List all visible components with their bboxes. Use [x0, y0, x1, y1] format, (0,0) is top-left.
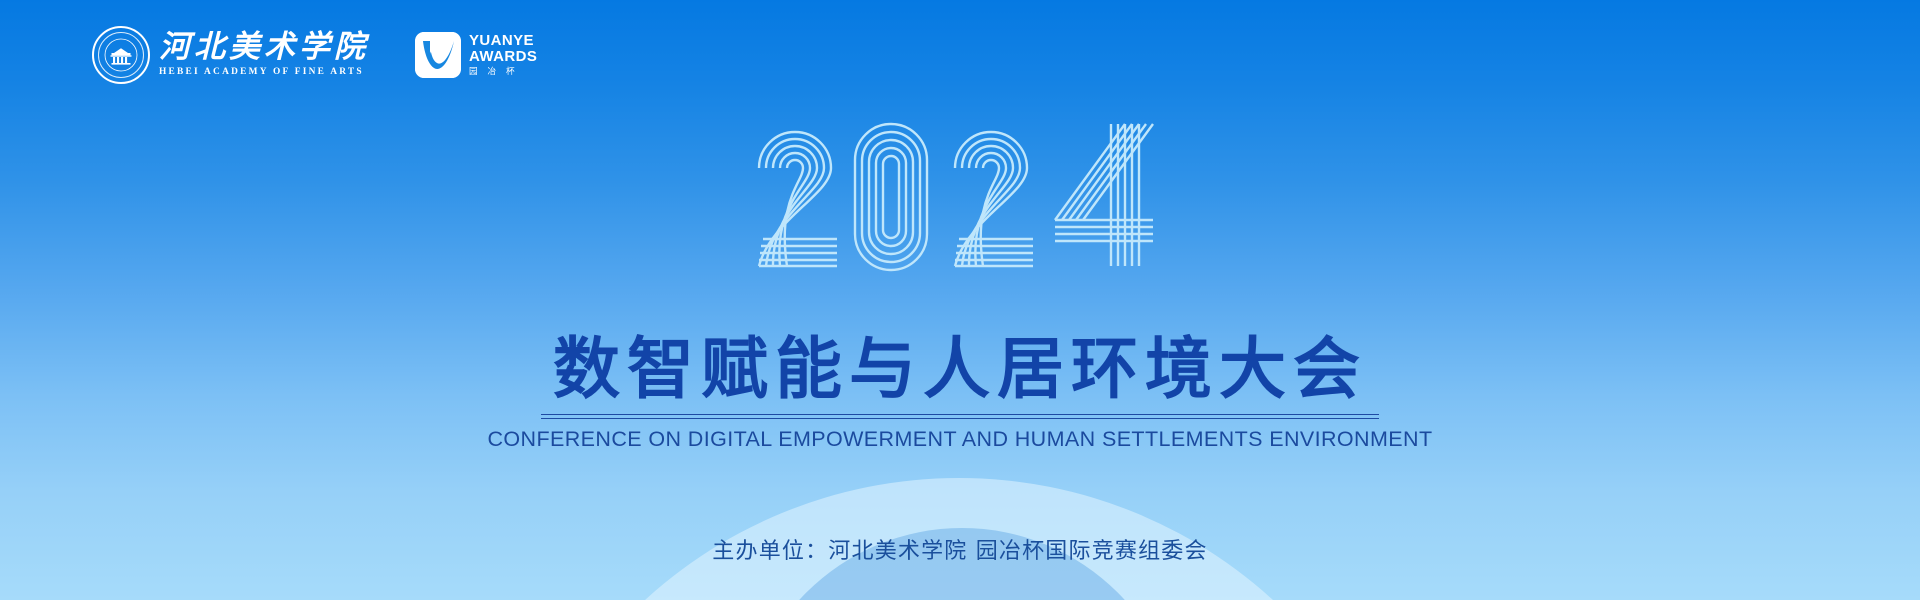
year-2024-graphic: [0, 112, 1920, 282]
page-title-cn: 数智赋能与人居环境大会: [0, 336, 1920, 403]
title-divider: [541, 414, 1379, 419]
hebei-academy-logo[interactable]: 河北美术学院 HEBEI ACADEMY OF FINE ARTS: [92, 26, 369, 84]
yuanye-line2: AWARDS: [469, 49, 537, 65]
logo-row: 河北美术学院 HEBEI ACADEMY OF FINE ARTS YUANYE…: [92, 26, 537, 84]
year-2024-svg: [745, 112, 1175, 282]
yuanye-logo-text: YUANYE AWARDS 园 冶 杯: [469, 33, 537, 76]
organizer-line: 主办单位：河北美术学院 园冶杯国际竞赛组委会: [0, 533, 1920, 565]
conference-banner: 河北美术学院 HEBEI ACADEMY OF FINE ARTS YUANYE…: [0, 0, 1920, 600]
page-subtitle-en: CONFERENCE ON DIGITAL EMPOWERMENT AND HU…: [0, 427, 1920, 452]
yuanye-awards-logo[interactable]: YUANYE AWARDS 园 冶 杯: [415, 32, 537, 78]
title-block: 数智赋能与人居环境大会 CONFERENCE ON DIGITAL EMPOWE…: [0, 336, 1920, 452]
yuanye-name-cn: 园 冶 杯: [469, 68, 537, 77]
academy-gate-emblem-icon: [92, 26, 150, 84]
hebei-name-cn: 河北美术学院: [159, 32, 369, 63]
divider-line-bottom: [541, 418, 1379, 419]
yuanye-line1: YUANYE: [469, 33, 537, 49]
divider-line-top: [541, 414, 1379, 415]
hebei-logo-text: 河北美术学院 HEBEI ACADEMY OF FINE ARTS: [159, 32, 369, 77]
yuanye-swoosh-icon: [415, 32, 461, 78]
hebei-name-en: HEBEI ACADEMY OF FINE ARTS: [159, 68, 369, 77]
